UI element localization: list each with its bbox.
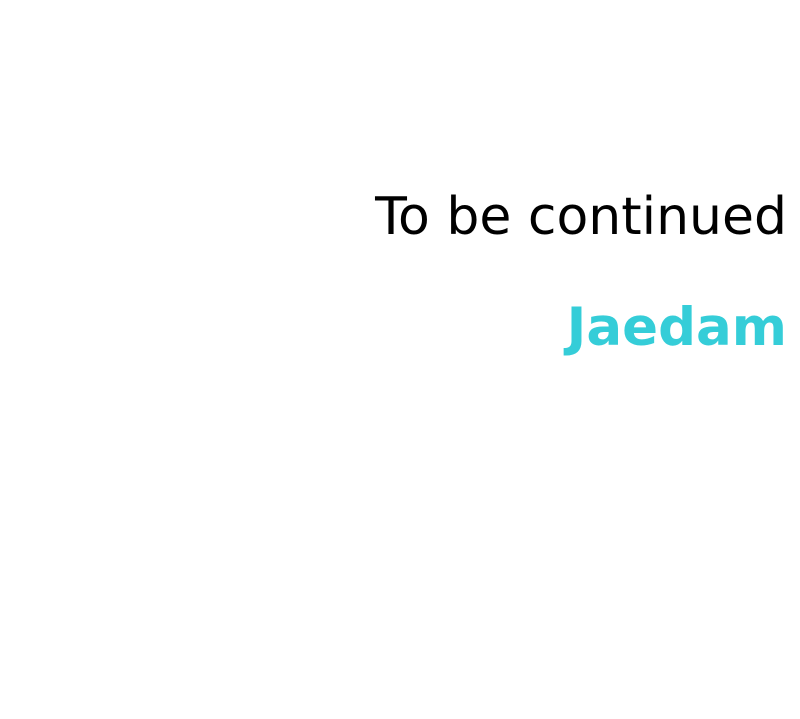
empty-region [0,370,800,719]
end-card-text-block: To be continued Jaedam [27,186,787,358]
end-card-attribution: Jaedam [27,298,787,358]
slide-canvas: To be continued Jaedam [0,0,800,719]
end-card-headline: To be continued [27,186,787,248]
